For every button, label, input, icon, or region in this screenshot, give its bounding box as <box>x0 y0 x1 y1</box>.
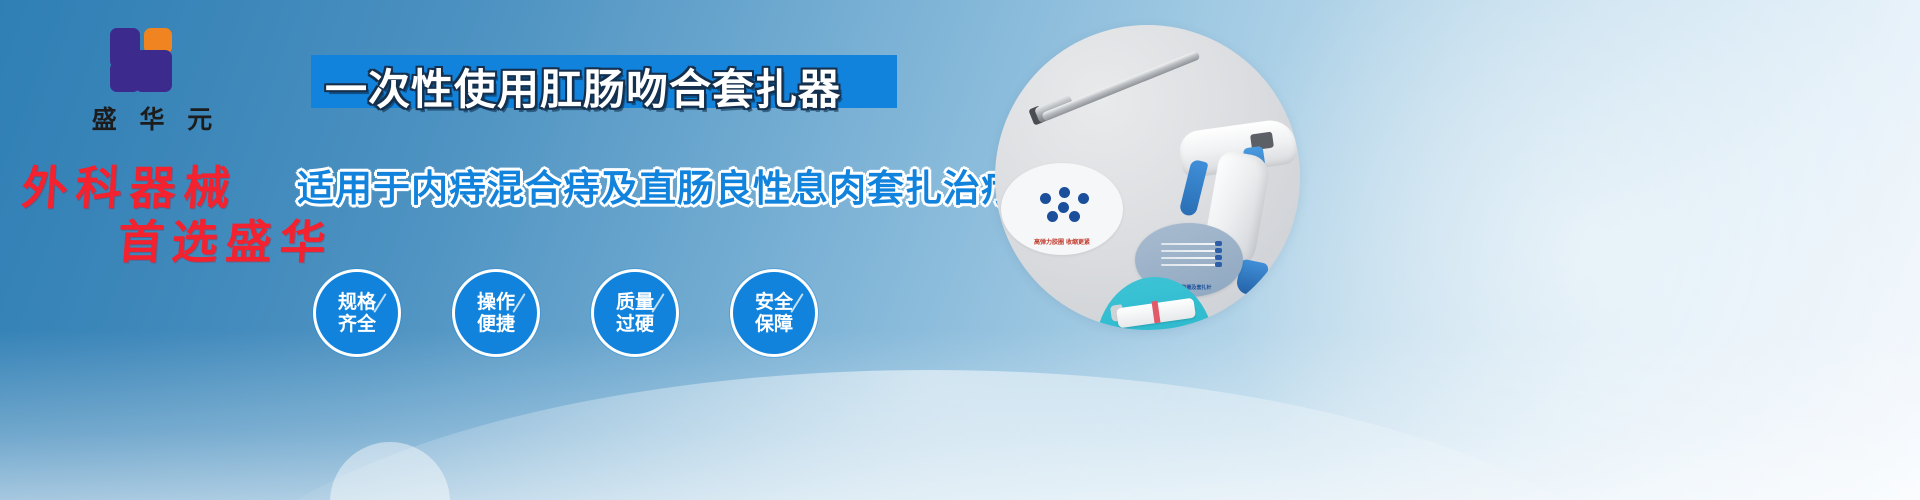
feature-label-line1: 操作 <box>477 291 515 313</box>
feature-badge-specs[interactable]: 规格 齐全 <box>313 269 401 357</box>
feature-label-line2: 过硬 <box>616 313 654 335</box>
feature-label-line2: 齐全 <box>338 313 376 335</box>
page-title: 一次性使用肛肠吻合套扎器 <box>325 56 841 117</box>
feature-label-line1: 安全 <box>755 291 793 313</box>
feature-label-line2: 保障 <box>755 313 793 335</box>
feature-badge-list: 规格 齐全 操作 便捷 质量 过硬 安全 保障 <box>313 269 818 357</box>
product-photo: 高弹力胶圈 收缩更紧 高弹力胶圈及套扎针 <box>995 25 1300 330</box>
company-name: 盛 华 元 <box>62 100 242 136</box>
feature-badge-quality[interactable]: 质量 过硬 <box>591 269 679 357</box>
feature-label-line2: 便捷 <box>477 313 515 335</box>
inset-rings-caption: 高弹力胶圈 收缩更紧 <box>1001 237 1123 246</box>
feature-badge-operation[interactable]: 操作 便捷 <box>452 269 540 357</box>
feature-badge-safety[interactable]: 安全 保障 <box>730 269 818 357</box>
page-subtitle: 适用于内痔混合痔及直肠良性息肉套扎治疗 <box>297 158 1019 212</box>
decorative-circle <box>330 442 450 500</box>
company-logo[interactable]: 盛 华 元 <box>62 28 242 136</box>
feature-label-line1: 规格 <box>338 291 376 313</box>
promo-banner: 盛 华 元 外科器械 首选盛华 一次性使用肛肠吻合套扎器 适用于内痔混合痔及直肠… <box>0 0 1920 500</box>
inset-rubber-rings: 高弹力胶圈 收缩更紧 <box>1001 163 1123 255</box>
feature-label-line1: 质量 <box>616 291 654 313</box>
shenghuayuan-h-logo-icon <box>108 28 196 94</box>
slogan-line-2: 首选盛华 <box>116 206 337 272</box>
device-shaft <box>1041 50 1200 121</box>
background-bottom-fade <box>0 330 1920 500</box>
